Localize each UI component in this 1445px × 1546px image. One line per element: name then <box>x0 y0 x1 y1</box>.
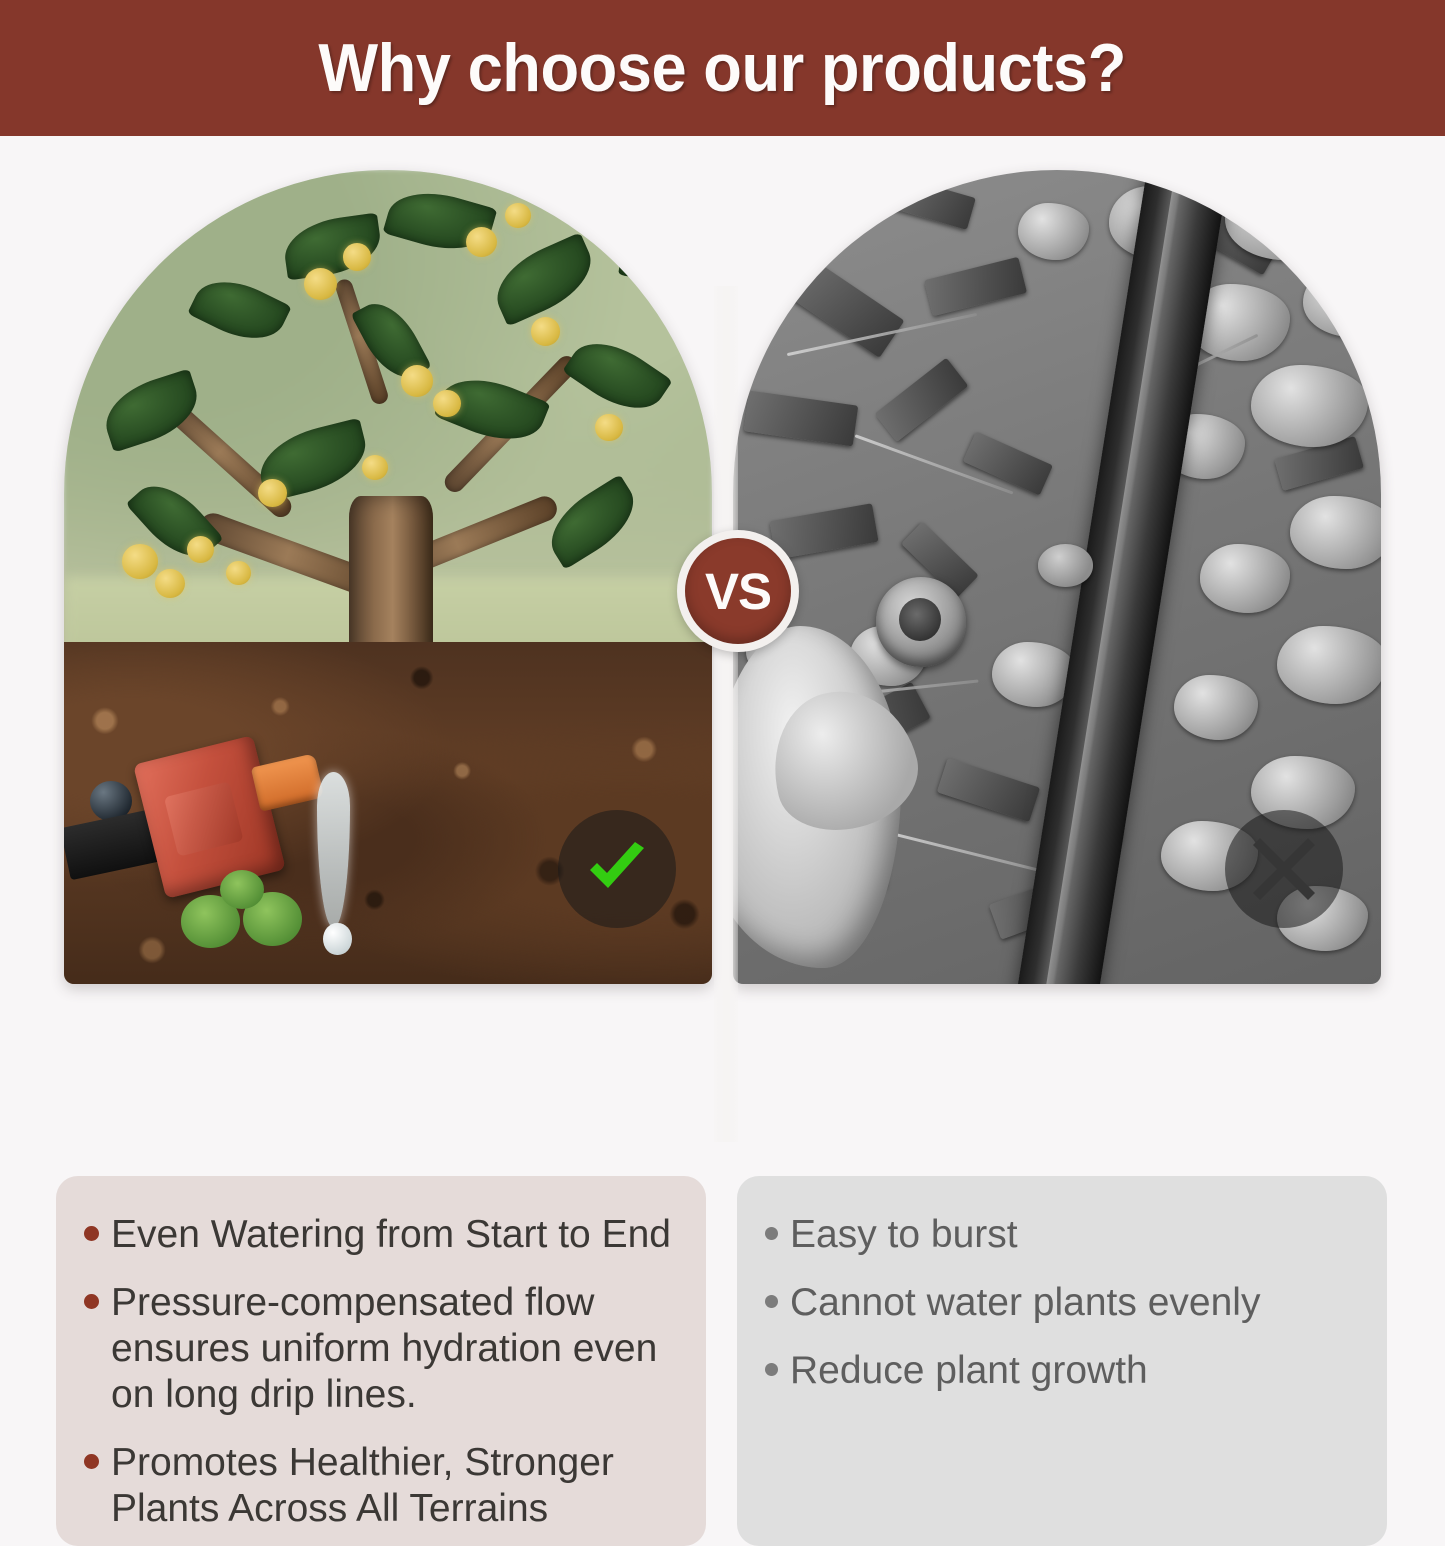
gravel-stone <box>1018 203 1089 260</box>
list-item: Pressure-compensated flow ensures unifor… <box>80 1280 676 1418</box>
failed-emitter <box>876 577 967 667</box>
osmanthus-flower <box>531 317 561 346</box>
osmanthus-flower <box>343 243 372 271</box>
cons-bullet-text: Easy to burst <box>790 1212 1018 1258</box>
center-divider <box>714 286 738 1142</box>
gravel-stone <box>1200 544 1291 612</box>
gravel-stone <box>1303 268 1381 337</box>
pros-bullet-text: Pressure-compensated flow ensures unifor… <box>111 1280 676 1418</box>
header-banner: Why choose our products? <box>0 0 1445 136</box>
list-item: Cannot water plants evenly <box>761 1280 1357 1326</box>
page-title: Why choose our products? <box>319 29 1126 107</box>
wood-chip <box>937 758 1040 822</box>
osmanthus-flower <box>362 455 388 480</box>
wood-chip <box>874 357 968 441</box>
good-product-photo <box>64 170 712 984</box>
bullet-dot-icon <box>84 1294 99 1309</box>
osmanthus-flower <box>466 227 497 257</box>
vs-badge-circle: VS <box>685 538 791 644</box>
cons-panel: Easy to burst Cannot water plants evenly… <box>737 1176 1387 1546</box>
seedling <box>181 870 311 968</box>
wood-chip <box>886 175 976 230</box>
gravel-stone <box>1251 365 1368 446</box>
pipe-cap <box>1038 544 1093 586</box>
osmanthus-flower <box>122 544 158 578</box>
list-item: Reduce plant growth <box>761 1348 1357 1394</box>
wood-chip <box>755 185 866 262</box>
vs-badge: VS <box>677 530 799 652</box>
vs-label: VS <box>705 562 771 621</box>
pros-bullet-list: Even Watering from Start to End Pressure… <box>80 1212 676 1532</box>
gravel-stone <box>1290 496 1381 569</box>
good-status-badge <box>558 810 676 928</box>
osmanthus-flower <box>155 569 185 598</box>
pros-panel: Even Watering from Start to End Pressure… <box>56 1176 706 1546</box>
cons-bullet-text: Reduce plant growth <box>790 1348 1148 1394</box>
good-photo-scene <box>64 170 712 984</box>
bullet-dot-icon <box>765 1295 778 1308</box>
wood-chip <box>963 431 1053 495</box>
osmanthus-flower <box>258 479 287 507</box>
bad-photo-scene <box>733 170 1381 984</box>
cons-bullet-list: Easy to burst Cannot water plants evenly… <box>761 1212 1357 1394</box>
check-icon <box>578 830 656 908</box>
pros-bullet-text: Even Watering from Start to End <box>111 1212 671 1258</box>
comparison-section: VS Even Watering from Start to End Press… <box>0 136 1445 1445</box>
cross-icon <box>1247 832 1321 906</box>
wood-chip <box>744 390 859 446</box>
gravel-stone <box>1174 675 1258 740</box>
bullet-dot-icon <box>765 1363 778 1376</box>
water-droplet <box>323 923 352 956</box>
bullet-dot-icon <box>765 1227 778 1240</box>
list-item: Even Watering from Start to End <box>80 1212 676 1258</box>
bad-status-badge <box>1225 810 1343 928</box>
osmanthus-flower <box>595 414 622 441</box>
bullet-dot-icon <box>84 1454 99 1469</box>
bad-product-photo <box>733 170 1381 984</box>
gravel-stone <box>1225 178 1335 259</box>
wood-chip <box>924 256 1027 315</box>
seedling-leaf <box>220 870 264 909</box>
osmanthus-flower <box>226 561 251 585</box>
osmanthus-flower <box>433 390 460 417</box>
bullet-dot-icon <box>84 1226 99 1241</box>
gravel-stone <box>1277 626 1381 704</box>
list-item: Promotes Healthier, Stronger Plants Acro… <box>80 1440 676 1532</box>
list-item: Easy to burst <box>761 1212 1357 1258</box>
pros-bullet-text: Promotes Healthier, Stronger Plants Acro… <box>111 1440 676 1532</box>
cons-bullet-text: Cannot water plants evenly <box>790 1280 1260 1326</box>
osmanthus-flower <box>505 203 531 228</box>
